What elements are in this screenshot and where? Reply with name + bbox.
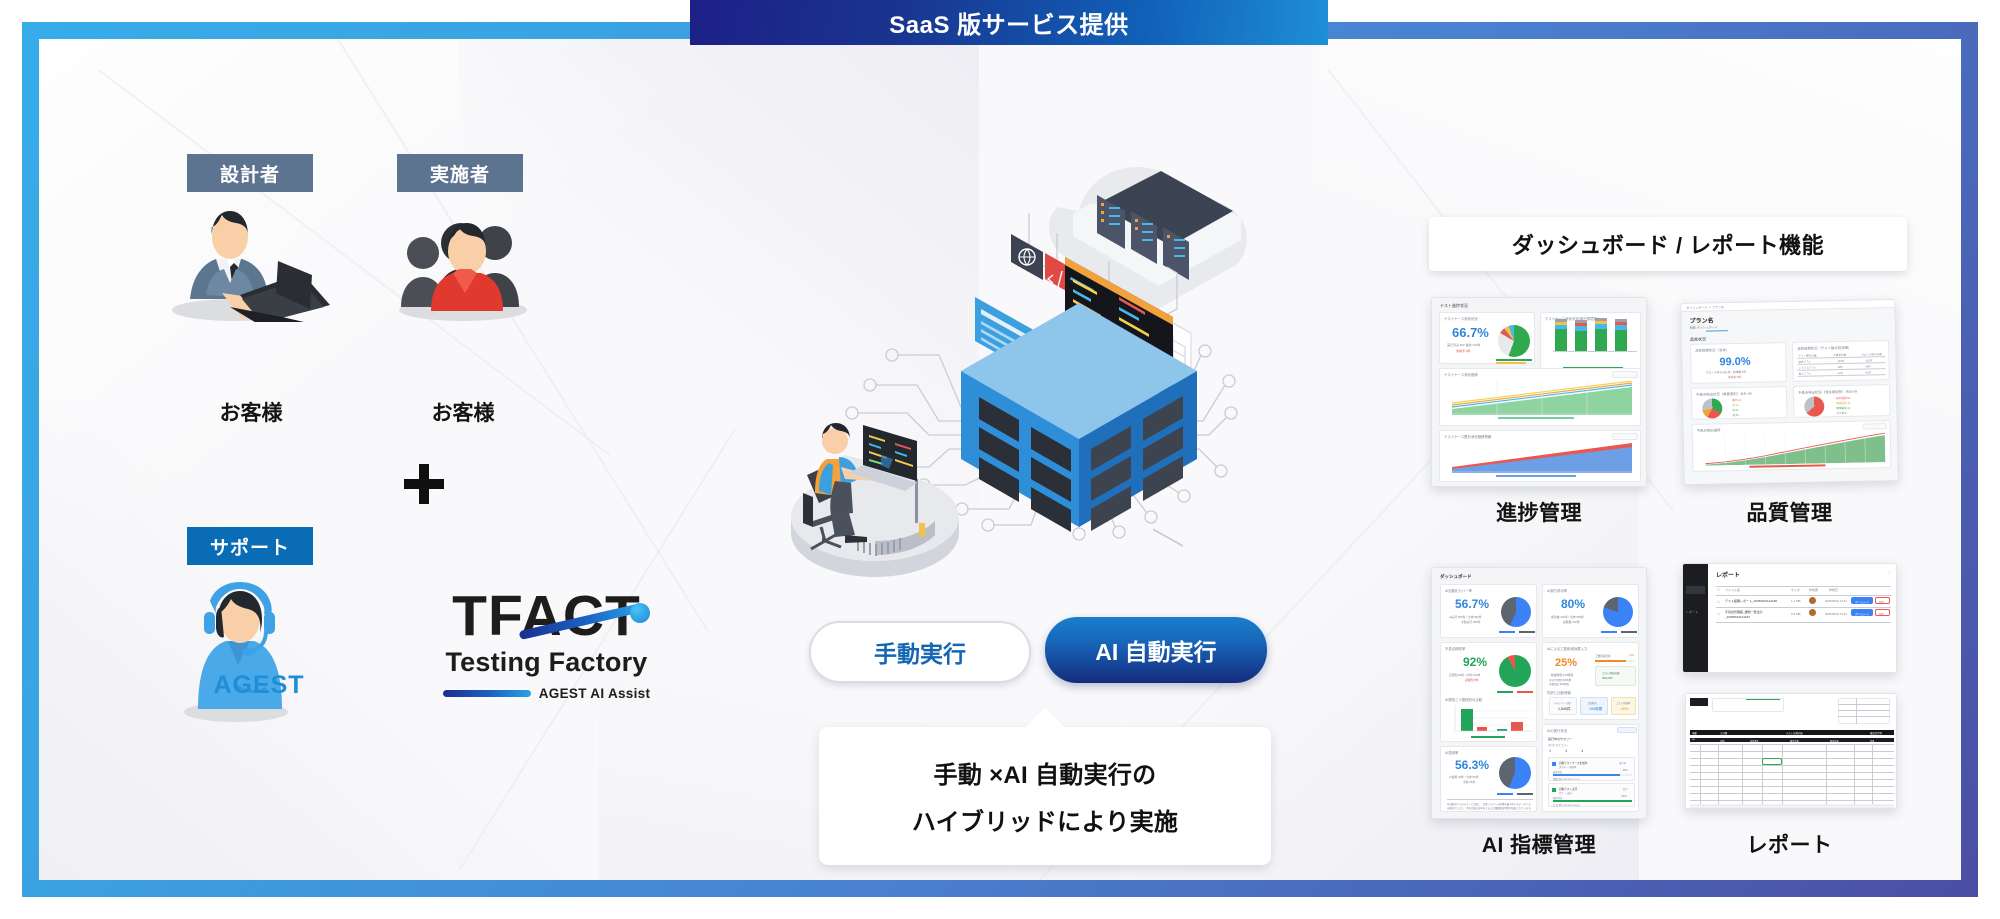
- tfact-tagline-bar-icon: [443, 690, 531, 697]
- callout-line-1: 手動 ×AI 自動実行の: [934, 755, 1157, 790]
- progress-management-caption-text: 進捗管理: [1496, 502, 1582, 525]
- tfact-logo: TFACT Testing Factory AGEST AI Assist: [414, 587, 679, 701]
- badge-implementer-label: 実施者: [430, 160, 490, 187]
- quality-management-thumbnail[interactable]: ダッシュボード ＞ プラン名 プラン名 概要 ダッシュボード 品質状況 品質指標…: [1680, 299, 1898, 485]
- saas-service-ribbon: SaaS 版サービス提供: [690, 0, 1328, 45]
- quality-management-caption: 品質管理: [1682, 497, 1897, 527]
- badge-support: サポート: [187, 527, 313, 565]
- isometric-cloud-server-developer-illustration: [779, 149, 1299, 579]
- role-caption-designer-text: お客様: [220, 402, 283, 425]
- tfact-subtitle: Testing Factory: [414, 647, 679, 678]
- badge-designer-label: 設計者: [220, 160, 280, 187]
- outer-gradient-frame: 設計者 実施者: [22, 22, 1978, 897]
- tfact-tagline-row: AGEST AI Assist: [414, 686, 679, 701]
- businessman-with-laptop-icon: [164, 207, 339, 322]
- badge-designer: 設計者: [187, 154, 313, 192]
- hybrid-callout: 手動 ×AI 自動実行の ハイブリッドにより実施: [819, 727, 1271, 865]
- diagram-stage: 設計者 実施者: [39, 39, 1961, 880]
- role-caption-implementer-text: お客様: [432, 402, 495, 425]
- support-agent-headset-icon: [174, 579, 329, 724]
- callout-line-2: ハイブリッドにより実施: [912, 802, 1178, 837]
- agest-brand-text: AGEST: [213, 671, 304, 699]
- saas-service-ribbon-title: SaaS 版サービス提供: [889, 5, 1128, 40]
- manual-execution-button-label: 手動実行: [874, 635, 966, 669]
- bg-line: [337, 39, 710, 634]
- dashboard-section-title: ダッシュボード / レポート機能: [1512, 228, 1824, 260]
- quality-management-caption-text: 品質管理: [1747, 502, 1833, 525]
- role-caption-designer: お客様: [171, 397, 331, 427]
- dashboard-section-header: ダッシュボード / レポート機能: [1429, 217, 1907, 271]
- ai-auto-execution-button[interactable]: AI 自動実行: [1045, 617, 1267, 683]
- plus-icon: [401, 461, 447, 507]
- report-thumbnail[interactable]: レポート レポート ⋮ ☐ ファイル名 サイズ 作成者 作成日 ☐ テスト結果レ…: [1682, 563, 1897, 673]
- customer-group-icon: [375, 207, 550, 322]
- role-caption-implementer: お客様: [383, 397, 543, 427]
- callout-arrow-icon: [1025, 708, 1065, 728]
- tfact-dot-icon: [630, 603, 650, 623]
- ai-metrics-management-caption: AI 指標管理: [1431, 829, 1647, 859]
- agest-brand-label: AGEST: [179, 671, 339, 700]
- ai-metrics-management-thumbnail[interactable]: ダッシュボード AI自動化カバー率 56.7% AI実行:500件 / 全体:8…: [1431, 567, 1647, 819]
- report-caption: レポート: [1682, 829, 1897, 859]
- report-caption-text: レポート: [1747, 834, 1833, 857]
- ai-metrics-management-caption-text: AI 指標管理: [1482, 834, 1596, 857]
- report-spreadsheet-thumbnail[interactable]: 項番 大分類 テスト実施内容 確認日付等 No 分類 前提条件 確認手順 期待結…: [1685, 693, 1897, 809]
- manual-execution-button[interactable]: 手動実行: [809, 621, 1031, 683]
- ai-auto-execution-button-label: AI 自動実行: [1095, 633, 1216, 667]
- tfact-wordmark: TFACT: [414, 587, 679, 645]
- badge-implementer: 実施者: [397, 154, 523, 192]
- progress-management-thumbnail[interactable]: テスト進捗状況 テストケース消化状況 66.7% 実行済み:500 進捗:100…: [1431, 297, 1647, 487]
- tfact-tagline-text: AGEST AI Assist: [539, 686, 651, 701]
- progress-management-caption: 進捗管理: [1431, 497, 1647, 527]
- badge-support-label: サポート: [210, 533, 290, 560]
